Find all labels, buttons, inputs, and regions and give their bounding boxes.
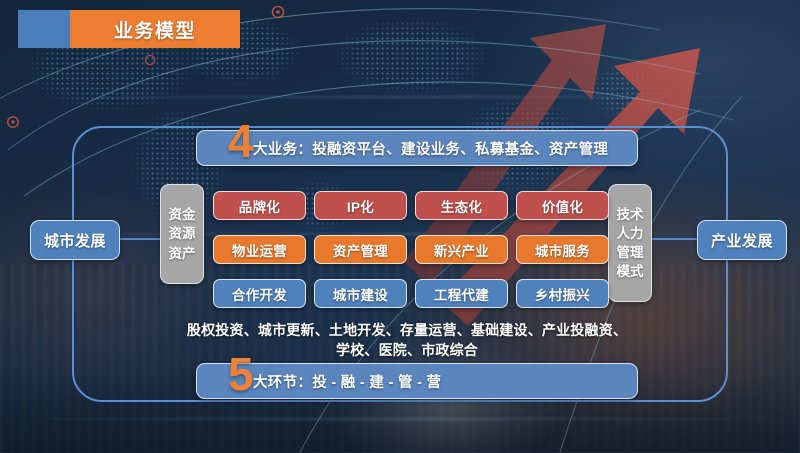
card-value[interactable]: 价值化 [516, 191, 609, 220]
pillar-capital-resources[interactable]: 资金 资源 资产 [160, 184, 204, 284]
pillar-right-line-1: 技术 [617, 205, 644, 224]
card-label: 品牌化 [239, 196, 280, 216]
description-line-1: 股权投资、城市更新、土地开发、存量运营、基础建设、产业投融资、 [172, 321, 642, 341]
card-label: IP化 [347, 196, 374, 216]
card-label: 资产管理 [333, 240, 388, 260]
title-banner-body: 业务模型 [70, 10, 240, 48]
card-ecology[interactable]: 生态化 [415, 191, 508, 220]
card-urban-construction[interactable]: 城市建设 [314, 279, 407, 308]
page-title: 业务模型 [114, 16, 196, 43]
pillar-left-line-1: 资金 [169, 205, 196, 224]
card-engineering-agency[interactable]: 工程代建 [415, 279, 508, 308]
card-label: 新兴产业 [434, 240, 489, 260]
card-label: 城市服务 [535, 240, 590, 260]
pillar-left-line-2: 资源 [169, 224, 196, 243]
pillar-right-line-4: 模式 [617, 262, 644, 281]
bottom-process-bar[interactable]: 大环节：投 - 融 - 建 - 管 - 营 [196, 363, 638, 399]
card-label: 价值化 [542, 196, 583, 216]
card-ip[interactable]: IP化 [314, 191, 407, 220]
card-label: 合作开发 [232, 284, 287, 304]
pillar-right-line-3: 管理 [617, 243, 644, 262]
card-label: 乡村振兴 [535, 284, 590, 304]
card-rural-revitalization[interactable]: 乡村振兴 [516, 279, 609, 308]
card-label: 生态化 [441, 196, 482, 216]
bottom-bar-label: 大环节：投 - 融 - 建 - 管 - 营 [253, 371, 441, 392]
slide-canvas: 业务模型 城市发展 产业发展 大业务：投融资平台、建设业务、私募基金、资产管理 … [0, 0, 800, 453]
badge-left-label: 城市发展 [44, 230, 106, 251]
pillar-right-line-2: 人力 [617, 224, 644, 243]
description-line-2: 学校、医院、市政综合 [172, 341, 642, 361]
title-accent-block [18, 10, 70, 48]
card-property-ops[interactable]: 物业运营 [213, 235, 306, 264]
card-emerging-industry[interactable]: 新兴产业 [415, 235, 508, 264]
description-block: 股权投资、城市更新、土地开发、存量运营、基础建设、产业投融资、 学校、医院、市政… [172, 321, 642, 361]
card-label: 物业运营 [232, 240, 287, 260]
card-asset-management[interactable]: 资产管理 [314, 235, 407, 264]
top-bar-label: 大业务：投融资平台、建设业务、私募基金、资产管理 [253, 138, 608, 159]
business-card-grid: 品牌化 IP化 生态化 价值化 物业运营 资产管理 新兴产业 城市服务 合作开发… [213, 191, 609, 308]
pillar-left-line-3: 资产 [169, 244, 196, 263]
title-banner: 业务模型 [18, 10, 240, 48]
card-label: 工程代建 [434, 284, 489, 304]
top-business-bar[interactable]: 大业务：投融资平台、建设业务、私募基金、资产管理 [196, 130, 638, 166]
top-bar-number: 4 [228, 118, 254, 164]
card-cooperative-dev[interactable]: 合作开发 [213, 279, 306, 308]
card-brand[interactable]: 品牌化 [213, 191, 306, 220]
badge-city-development[interactable]: 城市发展 [30, 220, 120, 260]
badge-right-label: 产业发展 [711, 230, 773, 251]
card-label: 城市建设 [333, 284, 388, 304]
badge-industry-development[interactable]: 产业发展 [697, 220, 787, 260]
card-city-service[interactable]: 城市服务 [516, 235, 609, 264]
pillar-technology-management[interactable]: 技术 人力 管理 模式 [608, 184, 652, 302]
